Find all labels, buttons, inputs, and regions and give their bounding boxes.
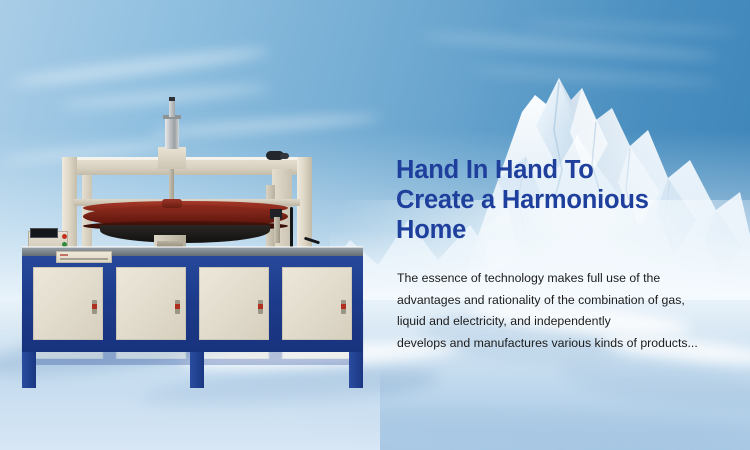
door-handle-icon	[175, 300, 180, 314]
emergency-stop-button[interactable]	[62, 234, 67, 239]
headline-line-2: Create a Harmonious	[396, 185, 716, 215]
door-handle-icon	[341, 300, 346, 314]
industrial-press-machine	[18, 95, 363, 370]
door-handle-icon	[258, 300, 263, 314]
door-handle-icon	[92, 300, 97, 314]
cabinet-door[interactable]	[116, 267, 186, 340]
hydraulic-cylinder	[165, 117, 179, 149]
cylinder-mount-block	[158, 147, 186, 169]
gantry-right-post	[297, 157, 312, 257]
right-arm-column	[274, 217, 280, 243]
control-screen	[30, 228, 58, 238]
machine-leg	[349, 352, 363, 388]
body-line-3: liquid and electricity, and independentl…	[397, 311, 727, 333]
motor-housing	[280, 153, 289, 159]
headline-line-1: Hand In Hand To	[396, 155, 716, 185]
machine-leg	[190, 352, 204, 388]
cabinet-door[interactable]	[199, 267, 269, 340]
machine-leg	[22, 352, 36, 388]
machine-nameplate	[56, 251, 112, 263]
machine-deck-highlight	[22, 246, 363, 248]
headline-line-3: Home	[396, 215, 716, 245]
banner-body-text: The essence of technology makes full use…	[397, 268, 727, 354]
body-line-2: advantages and rationality of the combin…	[397, 290, 727, 312]
piston-rod	[169, 99, 175, 117]
cabinet-door[interactable]	[33, 267, 103, 340]
banner-headline: Hand In Hand To Create a Harmonious Home	[396, 155, 716, 245]
piston-rod-tip	[169, 97, 175, 101]
promo-banner: Hand In Hand To Create a Harmonious Home…	[0, 0, 750, 450]
body-line-4: develops and manufactures various kinds …	[397, 333, 727, 355]
cabinet-door[interactable]	[282, 267, 352, 340]
body-line-1: The essence of technology makes full use…	[397, 268, 727, 290]
disc-hub	[162, 199, 182, 208]
